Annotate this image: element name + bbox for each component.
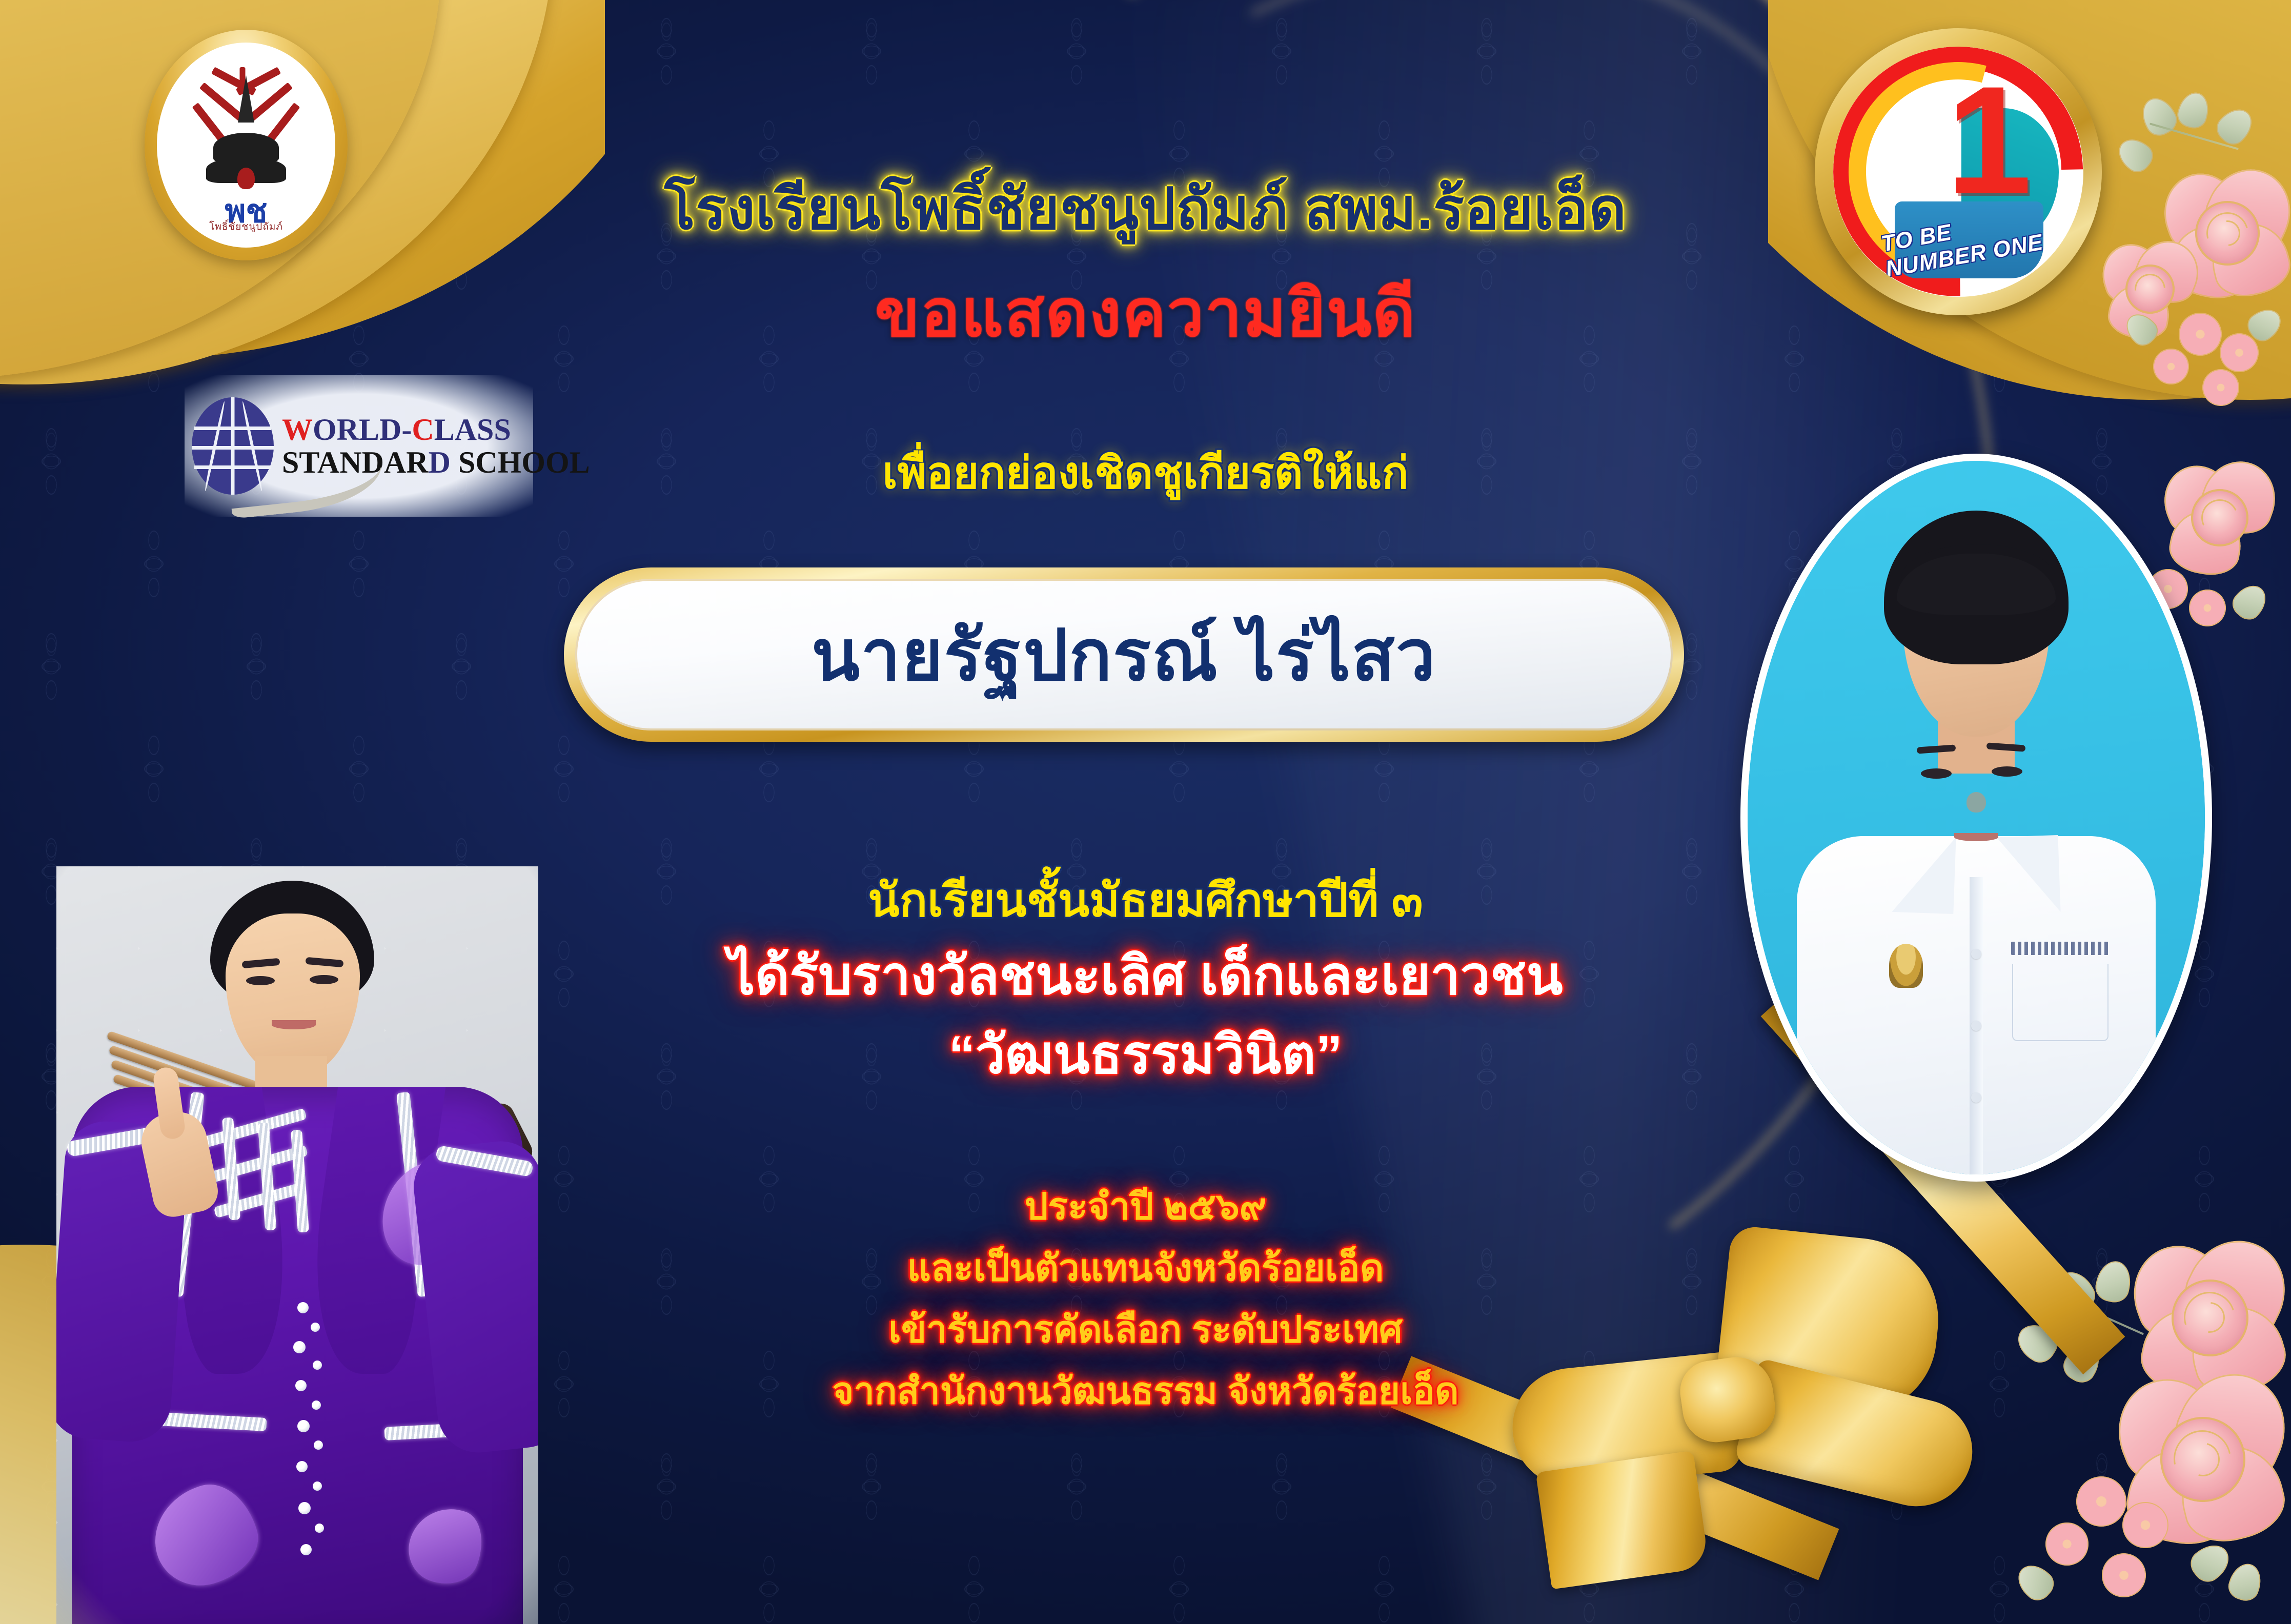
certificate-canvas: พช โพธิ์ชัยชนูปถัมภ์ WORLD-CLASS STANDAR… [0, 0, 2291, 1624]
to-be-number-one-icon: 1 TO BE NUMBER ONE [1815, 28, 2102, 315]
world-class-standard-school-logo: WORLD-CLASS STANDARD SCHOOL [185, 375, 533, 517]
congratulations-title: ขอแสดงความยินดี [875, 281, 1416, 347]
award-issuer: จากสำนักงานวัฒนธรรม จังหวัดร้อยเอ็ด [832, 1373, 1458, 1410]
student-portrait [1740, 454, 2212, 1182]
performer-portrait [56, 866, 538, 1624]
tbno-numeral: 1 [1947, 69, 2032, 211]
recipient-grade: นักเรียนชั้นมัธยมศึกษาปีที่ ๓ [868, 878, 1423, 924]
recipient-nameplate: นายรัฐปกรณ์ ไร่ไสว [564, 567, 1684, 742]
award-selection: เข้ารับการคัดเลือก ระดับประเทศ [888, 1311, 1402, 1348]
school-emblem-icon: พช โพธิ์ชัยชนูปถัมภ์ [145, 30, 348, 260]
award-title-line: ได้รับรางวัลชนะเลิศ เด็กและเยาวชน [728, 949, 1563, 1003]
school-name-heading: โรงเรียนโพธิ์ชัยชนูปถัมภ์ สพม.ร้อยเอ็ด [664, 180, 1627, 238]
school-emblem-arc-text: โพธิ์ชัยชนูปถัมภ์ [209, 219, 283, 234]
wcss-line-1: WORLD-CLASS [282, 414, 590, 445]
award-category: “วัฒนธรรมวินิต” [948, 1028, 1342, 1082]
honor-intro-text: เพื่อยกย่องเชิดชูเกียรติให้แก่ [882, 451, 1408, 495]
award-representative: และเป็นตัวแทนจังหวัดร้อยเอ็ด [907, 1250, 1384, 1287]
recipient-name: นายรัฐปกรณ์ ไร่ไสว [812, 598, 1436, 711]
award-year: ประจำปี ๒๕๖๙ [1025, 1188, 1267, 1225]
globe-icon [192, 397, 274, 495]
